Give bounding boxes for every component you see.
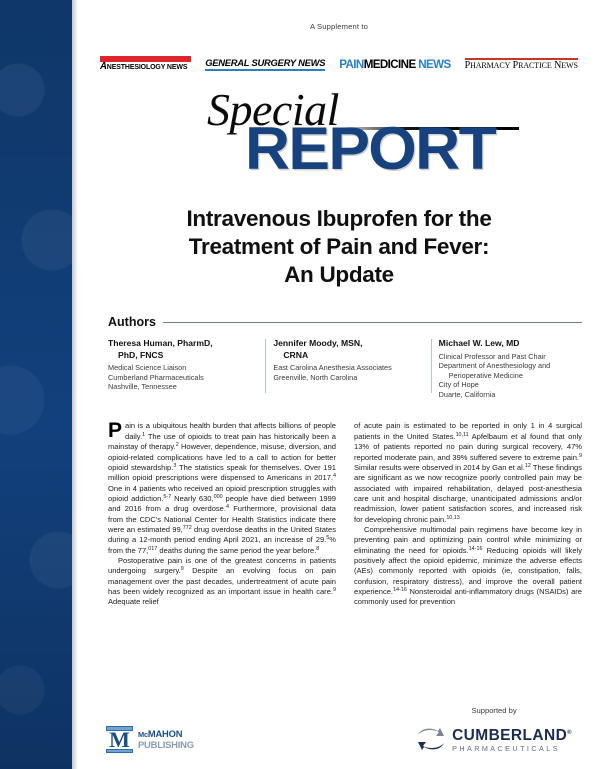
mcmahon-wordmark-mahon: MAHON bbox=[148, 728, 182, 739]
author-affiliation-line: Medical Science Liaison bbox=[108, 363, 249, 373]
author-name: Theresa Human, PharmD, PhD, FNCS bbox=[108, 338, 249, 361]
author-affiliation: East Carolina Anesthesia Associates Gree… bbox=[273, 363, 414, 382]
mcmahon-wordmark-mc: Mc bbox=[138, 730, 148, 739]
article-title-line-1: Intravenous Ibuprofen for the bbox=[118, 205, 560, 233]
pain-medicine-news-wordmark: PAINMEDICINE NEWS bbox=[339, 59, 450, 71]
anesthesiology-news-wordmark: ANESTHESIOLOGY NEWS bbox=[100, 62, 187, 71]
article-title-line-2: Treatment of Pain and Fever: bbox=[118, 233, 560, 261]
author-name-line-2: CRNA bbox=[273, 350, 414, 362]
mcmahon-publishing-logo: M McMAHON PUBLISHING bbox=[106, 726, 194, 753]
author-affiliation: Medical Science Liaison Cumberland Pharm… bbox=[108, 363, 249, 392]
cumberland-subtitle: PHARMACEUTICALS bbox=[452, 744, 572, 753]
masthead-word-report: REPORT bbox=[245, 119, 495, 179]
mcmahon-column-icon: M bbox=[106, 726, 133, 753]
left-navy-spine bbox=[0, 0, 72, 769]
general-surgery-news-logo: GENERAL SURGERY NEWS bbox=[205, 57, 325, 72]
author-name-line-1: Jennifer Moody, MSN, bbox=[273, 338, 362, 348]
cumberland-name-text: CUMBERLAND bbox=[452, 727, 567, 744]
cumberland-pharmaceuticals-logo: CUMBERLAND® PHARMACEUTICALS bbox=[416, 725, 572, 753]
general-surgery-news-blue-bar bbox=[205, 69, 325, 72]
supplement-label: A Supplement to bbox=[78, 0, 600, 31]
authors-heading: Authors bbox=[108, 315, 163, 329]
body-column-left: Pain is a ubiquitous health burden that … bbox=[108, 421, 336, 607]
body-column-right: of acute pain is estimated to be reporte… bbox=[354, 421, 582, 607]
pharmacy-practice-news-wordmark: PHARMACY PRACTICE NEWS bbox=[465, 60, 578, 71]
mcmahon-wordmark: McMAHON PUBLISHING bbox=[138, 729, 194, 750]
pain-medicine-news-word-news: NEWS bbox=[418, 58, 450, 71]
author-affiliation-line: Greenville, North Carolina bbox=[273, 373, 414, 383]
author-column-divider bbox=[265, 339, 266, 393]
body-paragraph: of acute pain is estimated to be reporte… bbox=[354, 421, 582, 524]
general-surgery-news-wordmark: GENERAL SURGERY NEWS bbox=[205, 57, 325, 68]
author-name: Michael W. Lew, MD bbox=[439, 338, 580, 350]
authors-header-rule bbox=[163, 322, 582, 323]
author-affiliation-line: Clinical Professor and Past Chair bbox=[439, 352, 580, 362]
author-card-theresa-human: Theresa Human, PharmD, PhD, FNCS Medical… bbox=[108, 338, 255, 399]
pain-medicine-news-word-pain: PAIN bbox=[339, 58, 363, 71]
author-affiliation-line: Nashville, Tennessee bbox=[108, 382, 249, 392]
supported-by-label: Supported by bbox=[416, 706, 572, 715]
author-card-michael-lew: Michael W. Lew, MD Clinical Professor an… bbox=[431, 338, 586, 399]
author-name-line-2: PhD, FNCS bbox=[108, 350, 249, 362]
sponsor-block: Supported by CUMBERLAND® PHARMACEUTICALS bbox=[416, 706, 572, 753]
author-affiliation-line: Cumberland Pharmaceuticals bbox=[108, 373, 249, 383]
author-name: Jennifer Moody, MSN, CRNA bbox=[273, 338, 414, 361]
publication-logo-strip: ANESTHESIOLOGY NEWS GENERAL SURGERY NEWS… bbox=[78, 45, 600, 71]
body-paragraph: Pain is a ubiquitous health burden that … bbox=[108, 421, 336, 555]
mcmahon-icon-bottom-bar bbox=[106, 749, 133, 754]
body-paragraph: Comprehensive multimodal pain regimens h… bbox=[354, 525, 582, 608]
body-paragraph-text: Comprehensive multimodal pain regimens h… bbox=[354, 525, 582, 606]
author-affiliation-line: Department of Anesthesiology and bbox=[439, 361, 580, 371]
body-paragraph-text: ain is a ubiquitous health burden that a… bbox=[108, 421, 336, 554]
article-body: Pain is a ubiquitous health burden that … bbox=[108, 421, 582, 607]
author-affiliation-line: Perioperative Medicine bbox=[439, 371, 580, 381]
article-title-line-3: An Update bbox=[118, 261, 560, 289]
drop-cap: P bbox=[108, 421, 125, 440]
special-report-masthead: Special REPORT bbox=[159, 87, 519, 183]
mcmahon-wordmark-line-2: PUBLISHING bbox=[138, 740, 194, 750]
authors-list: Theresa Human, PharmD, PhD, FNCS Medical… bbox=[108, 338, 586, 399]
body-paragraph: Postoperative pain is one of the greates… bbox=[108, 556, 336, 608]
author-affiliation: Clinical Professor and Past Chair Depart… bbox=[439, 352, 580, 400]
authors-section-header: Authors bbox=[108, 315, 582, 329]
pharmacy-practice-news-logo: PHARMACY PRACTICE NEWS bbox=[465, 58, 578, 71]
anesthesiology-news-logo: ANESTHESIOLOGY NEWS bbox=[100, 56, 191, 71]
cumberland-swoosh-icon bbox=[416, 727, 446, 751]
cumberland-swoosh-svg bbox=[416, 727, 446, 751]
cumberland-name: CUMBERLAND® bbox=[452, 725, 572, 744]
registered-trademark-icon: ® bbox=[567, 730, 572, 736]
author-affiliation-line: City of Hope bbox=[439, 380, 580, 390]
author-name-line-1: Theresa Human, PharmD, bbox=[108, 338, 213, 348]
page-footer: M McMAHON PUBLISHING Supported by bbox=[78, 706, 600, 753]
body-paragraph-text: of acute pain is estimated to be reporte… bbox=[354, 421, 582, 523]
pain-medicine-news-word-medicine: MEDICINE bbox=[364, 58, 416, 71]
author-column-divider bbox=[431, 339, 432, 393]
cumberland-wordmark: CUMBERLAND® PHARMACEUTICALS bbox=[452, 725, 572, 753]
author-name-line-1: Michael W. Lew, MD bbox=[439, 338, 520, 348]
page-content: A Supplement to ANESTHESIOLOGY NEWS GENE… bbox=[78, 0, 600, 769]
author-card-jennifer-moody: Jennifer Moody, MSN, CRNA East Carolina … bbox=[265, 338, 420, 399]
special-report-page: A Supplement to ANESTHESIOLOGY NEWS GENE… bbox=[0, 0, 600, 769]
body-paragraph-text: Postoperative pain is one of the greates… bbox=[108, 556, 336, 606]
author-affiliation-line: East Carolina Anesthesia Associates bbox=[273, 363, 414, 373]
pain-medicine-news-logo: PAINMEDICINE NEWS bbox=[339, 59, 450, 71]
author-affiliation-line: Duarte, California bbox=[439, 390, 580, 400]
mcmahon-icon-letter-m: M bbox=[109, 730, 130, 749]
page-title: Intravenous Ibuprofen for the Treatment … bbox=[118, 205, 560, 289]
